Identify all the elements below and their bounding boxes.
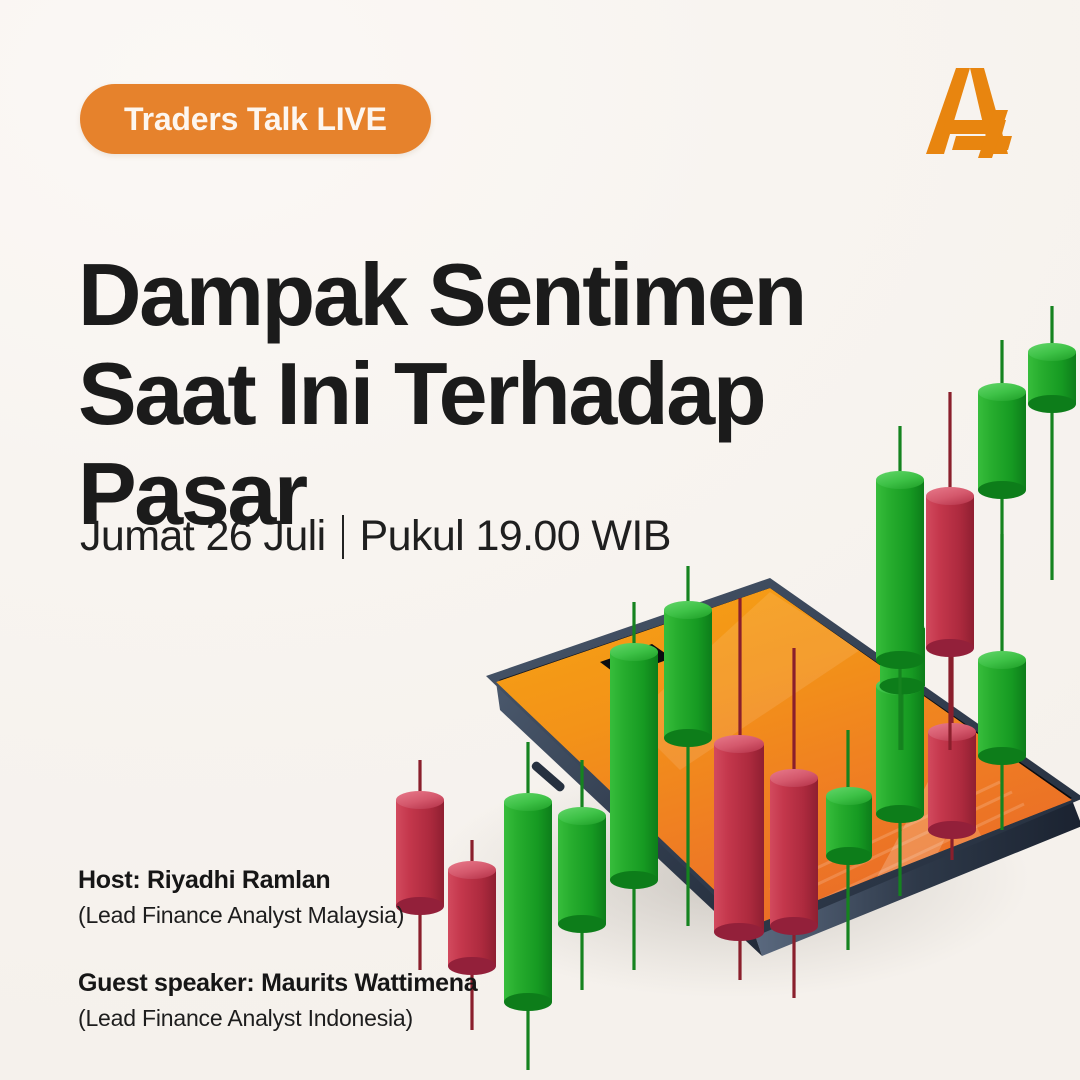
- guest-name: Guest speaker: Maurits Wattimena: [78, 969, 598, 998]
- host-role: (Lead Finance Analyst Malaysia): [78, 902, 598, 929]
- candle-17: [1028, 306, 1076, 580]
- credits-block: Host: Riyadhi Ramlan (Lead Finance Analy…: [78, 866, 598, 1032]
- guest-role: (Lead Finance Analyst Indonesia): [78, 1005, 598, 1032]
- live-badge-label: Traders Talk LIVE: [124, 101, 387, 138]
- credit-host: Host: Riyadhi Ramlan (Lead Finance Analy…: [78, 866, 598, 929]
- candle-16: [978, 340, 1026, 630]
- host-name: Host: Riyadhi Ramlan: [78, 866, 598, 895]
- credit-guest: Guest speaker: Maurits Wattimena (Lead F…: [78, 969, 598, 1032]
- promo-poster: Traders Talk LIVE Dampak Sentimen Saat I…: [0, 0, 1080, 1080]
- schedule-date: Jumat 26 Juli: [80, 512, 326, 561]
- agc-a-monogram-icon: [920, 62, 1022, 158]
- live-badge[interactable]: Traders Talk LIVE: [80, 84, 431, 154]
